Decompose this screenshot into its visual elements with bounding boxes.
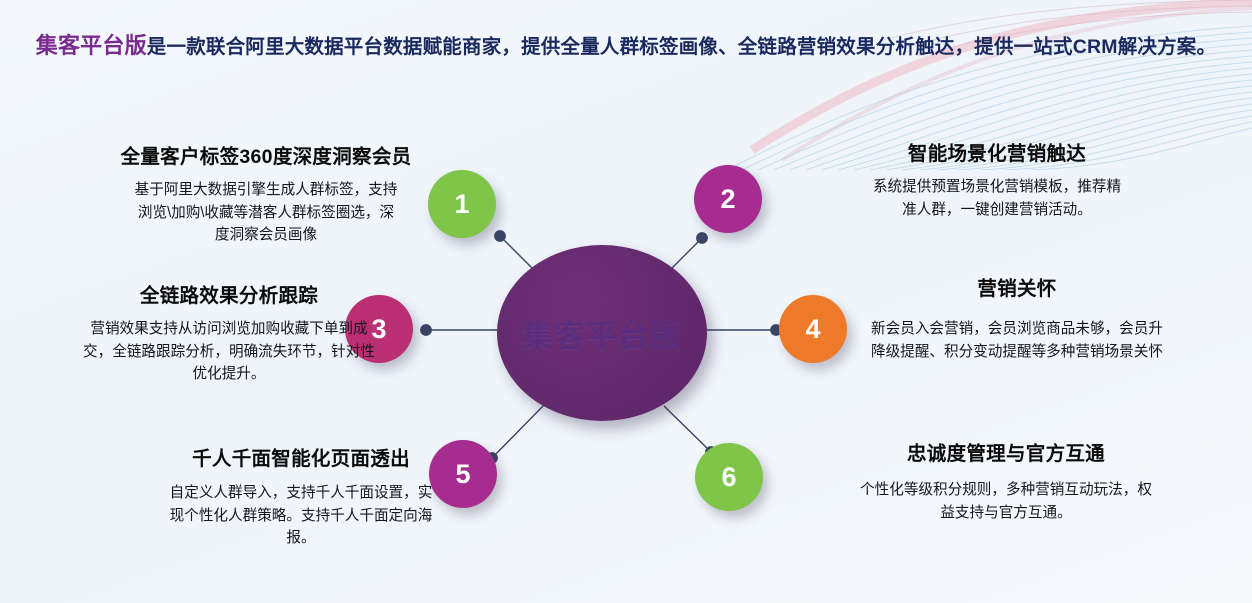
- feature-block-2: 智能场景化营销触达 系统提供预置场景化营销模板，推荐精准人群，一键创建营销活动。: [832, 143, 1162, 221]
- feature-block-5-title: 千人千面智能化页面透出: [136, 448, 466, 470]
- feature-block-3-title: 全链路效果分析跟踪: [64, 285, 394, 307]
- feature-block-2-title: 智能场景化营销触达: [832, 143, 1162, 165]
- feature-block-4-title: 营销关怀: [862, 278, 1172, 300]
- feature-block-4: 营销关怀 新会员入会营销，会员浏览商品未够，会员升降级提醒、积分变动提醒等多种营…: [862, 278, 1172, 363]
- bubble-2-number: 2: [720, 184, 735, 215]
- slide-canvas: 集客平台版是一款联合阿里大数据平台数据赋能商家，提供全量人群标签画像、全链路营销…: [0, 0, 1252, 603]
- bubble-4-number: 4: [805, 314, 820, 345]
- feature-block-6: 忠诚度管理与官方互通 个性化等级积分规则，多种营销互动玩法，权益支持与官方互通。: [838, 443, 1174, 524]
- feature-block-3-body: 营销效果支持从访问浏览加购收藏下单到成交，全链路跟踪分析，明确流失环节，针对性优…: [79, 318, 379, 385]
- bubble-1-number: 1: [454, 189, 469, 220]
- center-hub[interactable]: 集客平台版: [497, 245, 707, 421]
- bubble-6[interactable]: 6: [695, 443, 763, 511]
- center-hub-label: 集客平台版: [522, 311, 682, 356]
- bubble-2[interactable]: 2: [694, 165, 762, 233]
- header-description: 是一款联合阿里大数据平台数据赋能商家，提供全量人群标签画像、全链路营销效果分析触…: [147, 36, 1216, 58]
- feature-block-1: 全量客户标签360度深度洞察会员 基于阿里大数据引擎生成人群标签，支持浏览\加购…: [92, 146, 440, 246]
- brand-name: 集客平台版: [36, 33, 147, 58]
- bubble-6-number: 6: [721, 462, 736, 493]
- feature-block-5: 千人千面智能化页面透出 自定义人群导入，支持千人千面设置，实现个性化人群策略。支…: [136, 448, 466, 549]
- feature-block-6-title: 忠诚度管理与官方互通: [838, 443, 1174, 465]
- page-title: 集客平台版是一款联合阿里大数据平台数据赋能商家，提供全量人群标签画像、全链路营销…: [0, 28, 1252, 60]
- feature-block-4-body: 新会员入会营销，会员浏览商品未够，会员升降级提醒、积分变动提醒等多种营销场景关怀: [867, 318, 1167, 362]
- bubble-4[interactable]: 4: [779, 295, 847, 363]
- feature-block-5-body: 自定义人群导入，支持千人千面设置，实现个性化人群策略。支持千人千面定向海报。: [167, 482, 435, 549]
- feature-block-6-body: 个性化等级积分规则，多种营销互动玩法，权益支持与官方互通。: [853, 479, 1159, 523]
- feature-block-1-title: 全量客户标签360度深度洞察会员: [92, 146, 440, 168]
- feature-block-3: 全链路效果分析跟踪 营销效果支持从访问浏览加购收藏下单到成交，全链路跟踪分析，明…: [64, 285, 394, 385]
- feature-block-2-body: 系统提供预置场景化营销模板，推荐精准人群，一键创建营销活动。: [866, 176, 1128, 220]
- feature-block-1-body: 基于阿里大数据引擎生成人群标签，支持浏览\加购\收藏等潜客人群标签圈选，深度洞察…: [131, 179, 401, 246]
